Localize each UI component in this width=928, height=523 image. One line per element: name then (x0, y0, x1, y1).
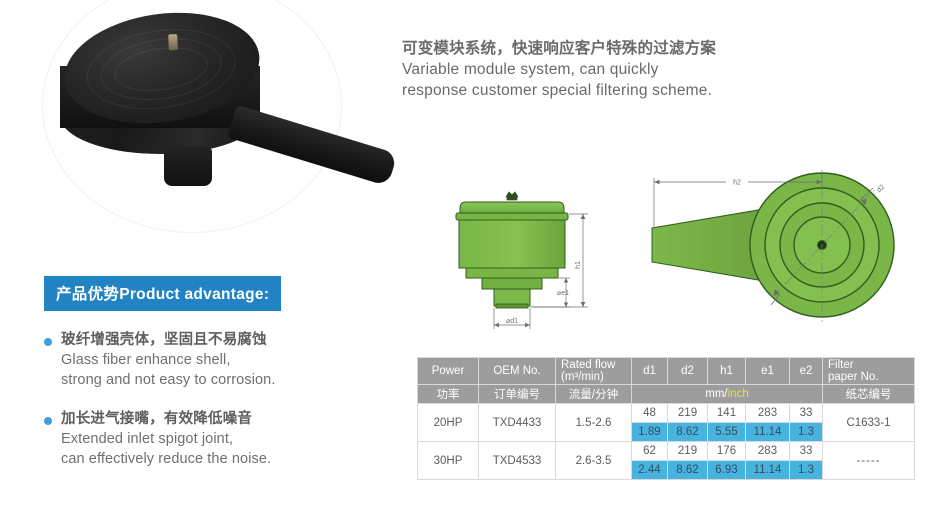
side-view-drawing: h1 ⌀e1 ⌀d1 (456, 192, 588, 329)
row2-d1-mm: 62 (632, 442, 668, 461)
header-rated-flow-unit: (m³/min) (561, 371, 631, 384)
table-row: 20HP TXD4433 1.5-2.6 48 219 141 283 33 C… (418, 404, 915, 423)
bullet-icon (44, 338, 52, 346)
row2-power: 30HP (418, 442, 479, 480)
top-view-drawing: d2 h2 (652, 170, 894, 322)
row1-e2-inch: 1.3 (790, 423, 823, 442)
advantage-1-chinese: 玻纤增强壳体，坚固且不易腐蚀 (61, 331, 374, 350)
row1-e2-mm: 33 (790, 404, 823, 423)
header-rated-flow-cn: 流量/分钟 (556, 385, 632, 404)
product-advantage-section: 产品优势Product advantage: 玻纤增强壳体，坚固且不易腐蚀 Gl… (44, 276, 374, 469)
advantage-1-english-line1: Glass fiber enhance shell, (61, 350, 374, 370)
row2-d2-inch: 8.62 (668, 461, 708, 480)
row2-e1-mm: 283 (746, 442, 790, 461)
header-unit-mm-inch: mm/inch (632, 385, 823, 404)
row2-e1-inch: 11.14 (746, 461, 790, 480)
advantage-2-english-line1: Extended inlet spigot joint, (61, 429, 374, 449)
row2-h1-inch: 6.93 (708, 461, 746, 480)
header-d2: d2 (668, 358, 708, 385)
row1-h1-inch: 5.55 (708, 423, 746, 442)
top-view-d2-label: d2 (876, 184, 887, 194)
bullet-icon (44, 417, 52, 425)
header-rated-flow-line1: Rated flow (561, 359, 631, 372)
row2-h1-mm: 176 (708, 442, 746, 461)
row1-d2-mm: 219 (668, 404, 708, 423)
table-row: 30HP TXD4533 2.6-3.5 62 219 176 283 33 -… (418, 442, 915, 461)
row1-e1-mm: 283 (746, 404, 790, 423)
advantage-banner: 产品优势Product advantage: (44, 276, 281, 311)
side-view-h1-label: h1 (575, 261, 582, 269)
row2-filter-paper: ----- (823, 442, 915, 480)
advantage-item-1: 玻纤增强壳体，坚固且不易腐蚀 Glass fiber enhance shell… (44, 331, 374, 390)
header-filter-paper-no: Filter paper No. (823, 358, 915, 385)
drawings-svg: h1 ⌀e1 ⌀d1 (430, 170, 928, 345)
table-header-row-en: Power OEM No. Rated flow (m³/min) d1 d2 … (418, 358, 915, 385)
header-h1: h1 (708, 358, 746, 385)
header-filter-paper-cn: 纸芯编号 (823, 385, 915, 404)
top-view-h2-label: h2 (733, 180, 741, 187)
row2-d2-mm: 219 (668, 442, 708, 461)
technical-drawings: h1 ⌀e1 ⌀d1 (430, 170, 928, 345)
side-view-e1-label: ⌀e1 (557, 290, 569, 297)
row1-d1-inch: 1.89 (632, 423, 668, 442)
row2-d1-inch: 2.44 (632, 461, 668, 480)
header-filter-line1: Filter (828, 359, 914, 372)
tagline-english-line2: response customer special filtering sche… (402, 80, 902, 101)
advantage-2-english-line2: can effectively reduce the noise. (61, 449, 374, 469)
header-rated-flow: Rated flow (m³/min) (556, 358, 632, 385)
header-d1: d1 (632, 358, 668, 385)
tagline: 可变模块系统，快速响应客户特殊的过滤方案 Variable module sys… (402, 38, 902, 101)
header-e2: e2 (790, 358, 823, 385)
tagline-english-line1: Variable module system, can quickly (402, 59, 902, 80)
header-oem-no: OEM No. (479, 358, 556, 385)
row2-oem: TXD4533 (479, 442, 556, 480)
lid-screw (168, 34, 178, 50)
header-power-cn: 功率 (418, 385, 479, 404)
row1-oem: TXD4433 (479, 404, 556, 442)
row1-h1-mm: 141 (708, 404, 746, 423)
unit-inch-label: inch (728, 388, 749, 400)
row1-d1-mm: 48 (632, 404, 668, 423)
row1-d2-inch: 8.62 (668, 423, 708, 442)
row1-filter-paper: C1633-1 (823, 404, 915, 442)
side-view-d1-label: ⌀d1 (506, 318, 518, 325)
row1-e1-inch: 11.14 (746, 423, 790, 442)
header-filter-line2: paper No. (828, 371, 914, 384)
header-oem-no-cn: 订单编号 (479, 385, 556, 404)
advantage-item-2: 加长进气接嘴，有效降低噪音 Extended inlet spigot join… (44, 410, 374, 469)
row1-power: 20HP (418, 404, 479, 442)
specification-table: Power OEM No. Rated flow (m³/min) d1 d2 … (417, 357, 915, 480)
header-power: Power (418, 358, 479, 385)
row2-e2-inch: 1.3 (790, 461, 823, 480)
row2-flow: 2.6-3.5 (556, 442, 632, 480)
table-header-row-cn: 功率 订单编号 流量/分钟 mm/inch 纸芯编号 (418, 385, 915, 404)
header-e1: e1 (746, 358, 790, 385)
product-photo (0, 0, 400, 215)
advantage-2-chinese: 加长进气接嘴，有效降低噪音 (61, 410, 374, 429)
product-spec-sheet: 可变模块系统，快速响应客户特殊的过滤方案 Variable module sys… (0, 0, 928, 523)
tagline-chinese: 可变模块系统，快速响应客户特殊的过滤方案 (402, 38, 902, 59)
row2-e2-mm: 33 (790, 442, 823, 461)
filter-outlet-foot (164, 146, 212, 186)
unit-mm-label: mm/ (705, 388, 727, 400)
advantage-1-english-line2: strong and not easy to corrosion. (61, 370, 374, 390)
row1-flow: 1.5-2.6 (556, 404, 632, 442)
